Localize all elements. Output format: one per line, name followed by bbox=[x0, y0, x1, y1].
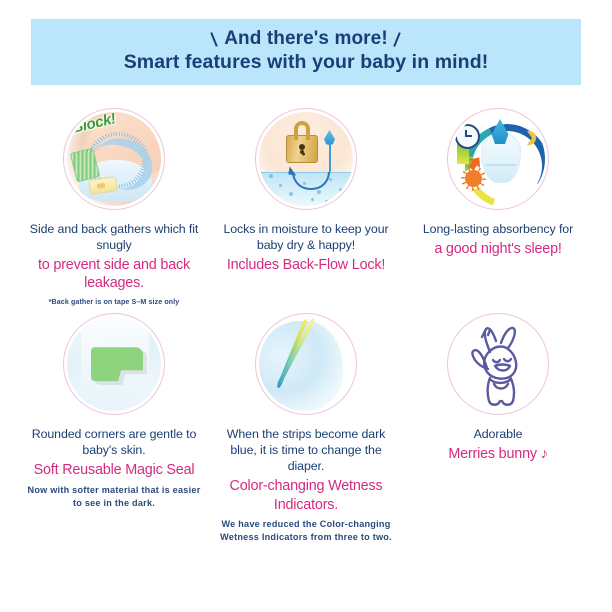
feature-accent-text: Includes Back-Flow Lock! bbox=[216, 256, 396, 275]
feature-caption: Adorable Merries bunny ♪ bbox=[448, 427, 547, 464]
merries-bunny-icon bbox=[447, 313, 549, 415]
feature-main-text: Locks in moisture to keep your baby dry … bbox=[216, 222, 396, 254]
banner-headline-row: And there's more! bbox=[209, 28, 403, 50]
feature-caption: Rounded corners are gentle to baby's ski… bbox=[24, 427, 204, 510]
wetness-indicator-strips-icon bbox=[255, 313, 357, 415]
leg-gather-block-icon: Block! bbox=[63, 108, 165, 210]
magic-seal-tape-icon bbox=[63, 313, 165, 415]
feature-main-text: Rounded corners are gentle to baby's ski… bbox=[24, 427, 204, 459]
slash-right-icon bbox=[392, 32, 403, 47]
feature-footnote: *Back gather is on tape S–M size only bbox=[24, 298, 204, 306]
droplet-stem-shape bbox=[329, 143, 331, 172]
feature-accent-text: a good night's sleep! bbox=[423, 240, 573, 259]
padlock-shape bbox=[286, 135, 318, 163]
feature-caption: When the strips become dark blue, it is … bbox=[216, 427, 396, 544]
banner-headline: And there's more! bbox=[224, 28, 388, 50]
feature-card-magic-seal: Rounded corners are gentle to baby's ski… bbox=[18, 306, 210, 544]
feature-main-text: Adorable bbox=[448, 427, 547, 443]
feature-card-long-lasting-absorbency: Long-lasting absorbency for a good night… bbox=[402, 108, 594, 306]
feature-caption: Locks in moisture to keep your baby dry … bbox=[216, 222, 396, 274]
feature-card-back-flow-lock: Locks in moisture to keep your baby dry … bbox=[210, 108, 402, 306]
clock-icon bbox=[455, 124, 480, 149]
feature-main-text: When the strips become dark blue, it is … bbox=[216, 427, 396, 475]
feature-accent-text: to prevent side and back leakages. bbox=[24, 256, 204, 293]
banner-subheadline: Smart features with your baby in mind! bbox=[124, 50, 489, 75]
feature-accent-text: Merries bunny ♪ bbox=[448, 445, 547, 464]
feature-card-wetness-indicators: When the strips become dark blue, it is … bbox=[210, 306, 402, 544]
feature-note-text: We have reduced the Color-changing Wetne… bbox=[216, 518, 396, 544]
feature-card-side-back-gathers: Block! Side and back gathers which fit s… bbox=[18, 108, 210, 306]
feature-main-text: Long-lasting absorbency for bbox=[423, 222, 573, 238]
padlock-water-icon bbox=[255, 108, 357, 210]
feature-grid: Block! Side and back gathers which fit s… bbox=[18, 108, 594, 545]
feature-card-merries-bunny: Adorable Merries bunny ♪ bbox=[402, 306, 594, 544]
feature-accent-text: Color-changing Wetness Indicators. bbox=[216, 477, 396, 514]
slash-left-icon bbox=[209, 32, 220, 47]
bunny-line-art bbox=[460, 322, 540, 410]
feature-note-text: Now with softer material that is easier … bbox=[24, 484, 204, 510]
feature-main-text: Side and back gathers which fit snugly bbox=[24, 222, 204, 254]
long-lasting-absorbency-icon bbox=[447, 108, 549, 210]
sun-icon bbox=[465, 170, 482, 187]
feature-caption: Long-lasting absorbency for a good night… bbox=[423, 222, 573, 259]
header-banner: And there's more! Smart features with yo… bbox=[31, 19, 581, 85]
feature-caption: Side and back gathers which fit snugly t… bbox=[24, 222, 204, 306]
feature-accent-text: Soft Reusable Magic Seal bbox=[24, 461, 204, 480]
